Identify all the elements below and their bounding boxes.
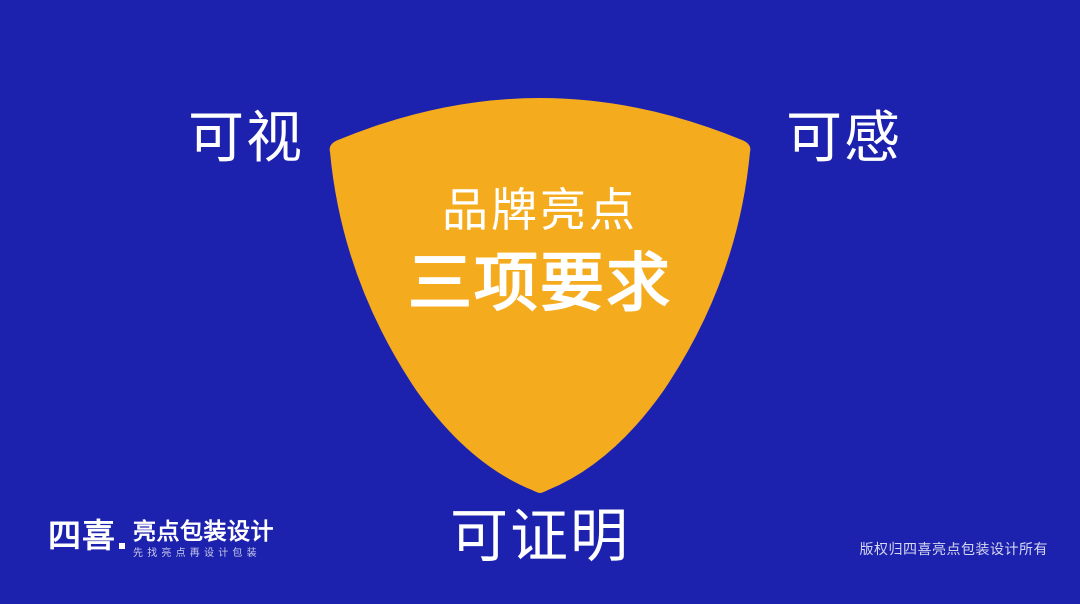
logo-mark-text: 四喜 [48, 518, 116, 554]
label-visible: 可视 [188, 110, 304, 166]
slide-canvas: 品牌亮点 三项要求 可视 可感 可证明 四喜 亮点包装设计 先找亮点再设计包装 … [0, 0, 1080, 604]
copyright-notice: 版权归四喜亮点包装设计所有 [860, 540, 1049, 558]
logo-tagline: 先找亮点再设计包装 [133, 548, 274, 560]
label-provable: 可证明 [450, 508, 630, 566]
shield-graphic [320, 90, 760, 500]
brand-logo: 四喜 亮点包装设计 先找亮点再设计包装 [48, 516, 274, 568]
logo-wordmark: 亮点包装设计 先找亮点再设计包装 [133, 516, 274, 560]
logo-mark: 四喜 [48, 516, 125, 556]
logo-dot-icon [119, 543, 125, 549]
logo-title: 亮点包装设计 [133, 519, 274, 544]
label-perceivable: 可感 [786, 110, 902, 166]
shield-shape [330, 98, 751, 493]
